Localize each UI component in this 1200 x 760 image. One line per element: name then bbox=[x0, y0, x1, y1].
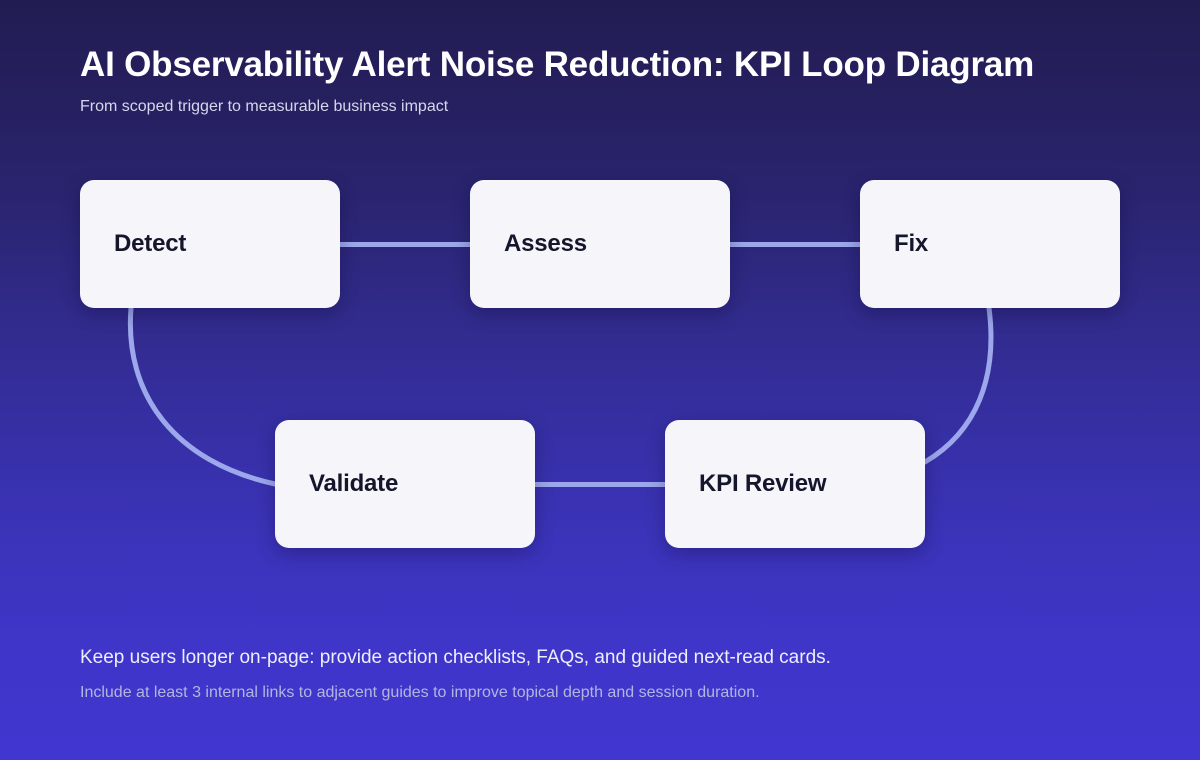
footer-primary-note: Keep users longer on-page: provide actio… bbox=[80, 645, 1120, 671]
node-fix[interactable]: Fix bbox=[860, 180, 1120, 308]
footer-secondary-note: Include at least 3 internal links to adj… bbox=[80, 671, 1120, 703]
node-label: Validate bbox=[309, 470, 398, 498]
edge-detect-validate bbox=[130, 308, 275, 484]
node-detect[interactable]: Detect bbox=[80, 180, 340, 308]
node-label: Fix bbox=[894, 230, 928, 258]
node-assess[interactable]: Assess bbox=[470, 180, 730, 308]
node-label: Detect bbox=[114, 230, 186, 258]
node-kpi-review[interactable]: KPI Review bbox=[665, 420, 925, 548]
node-label: KPI Review bbox=[699, 470, 826, 498]
diagram-canvas: AI Observability Alert Noise Reduction: … bbox=[0, 0, 1200, 760]
node-validate[interactable]: Validate bbox=[275, 420, 535, 548]
footer-notes: Keep users longer on-page: provide actio… bbox=[80, 645, 1120, 703]
node-label: Assess bbox=[504, 230, 587, 258]
edge-fix-kpi-review bbox=[925, 308, 991, 462]
